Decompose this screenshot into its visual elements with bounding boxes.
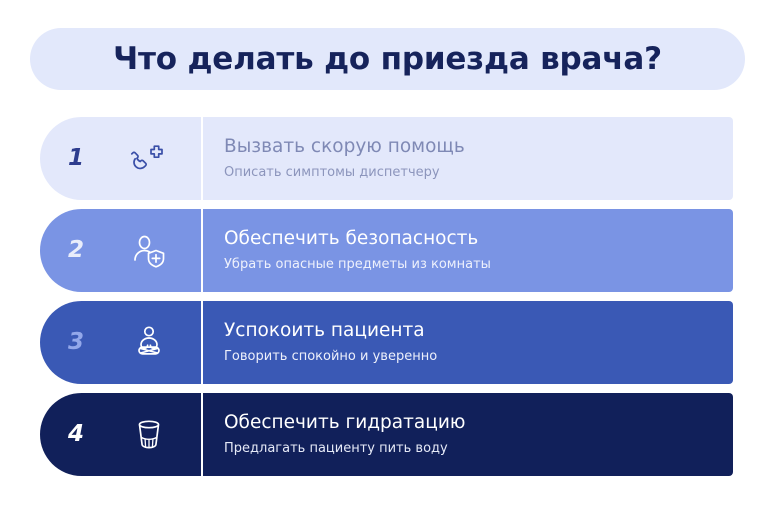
- step-body: Успокоить пациента Говорить спокойно и у…: [203, 301, 733, 384]
- meditating-person-icon: [112, 321, 186, 365]
- phone-medical-icon: [112, 137, 186, 181]
- step-body: Обеспечить гидратацию Предлагать пациент…: [203, 393, 733, 476]
- step-left-block: 2: [40, 209, 201, 292]
- step-number: 4: [40, 423, 112, 446]
- list-item[interactable]: 4 Обеспечить гидратацию Предлагать пацие…: [40, 393, 733, 476]
- step-subtitle: Предлагать пациенту пить воду: [224, 442, 733, 457]
- step-left-block: 4: [40, 393, 201, 476]
- list-item[interactable]: 2 Обеспечить безопасность Убрать опасные…: [40, 209, 733, 292]
- step-left-block: 1: [40, 117, 201, 200]
- step-subtitle: Убрать опасные предметы из комнаты: [224, 258, 733, 273]
- steps-list: 1 Вызвать скорую помощь Описать симптомы…: [40, 117, 733, 476]
- step-body: Обеспечить безопасность Убрать опасные п…: [203, 209, 733, 292]
- step-number: 2: [40, 239, 112, 262]
- step-title: Обеспечить гидратацию: [224, 412, 733, 433]
- step-left-block: 3: [40, 301, 201, 384]
- step-title: Обеспечить безопасность: [224, 228, 733, 249]
- page-title: Что делать до приезда врача?: [113, 44, 662, 75]
- step-body: Вызвать скорую помощь Описать симптомы д…: [203, 117, 733, 200]
- step-number: 1: [40, 147, 112, 170]
- list-item[interactable]: 1 Вызвать скорую помощь Описать симптомы…: [40, 117, 733, 200]
- person-shield-plus-icon: [112, 229, 186, 273]
- step-title: Успокоить пациента: [224, 320, 733, 341]
- step-number: 3: [40, 331, 112, 354]
- step-subtitle: Описать симптомы диспетчеру: [224, 166, 733, 181]
- page-title-banner: Что делать до приезда врача?: [30, 28, 745, 90]
- step-subtitle: Говорить спокойно и уверенно: [224, 350, 733, 365]
- water-glass-icon: [112, 413, 186, 457]
- list-item[interactable]: 3 Успокоить пациента Говорить спокойно и…: [40, 301, 733, 384]
- step-title: Вызвать скорую помощь: [224, 136, 733, 157]
